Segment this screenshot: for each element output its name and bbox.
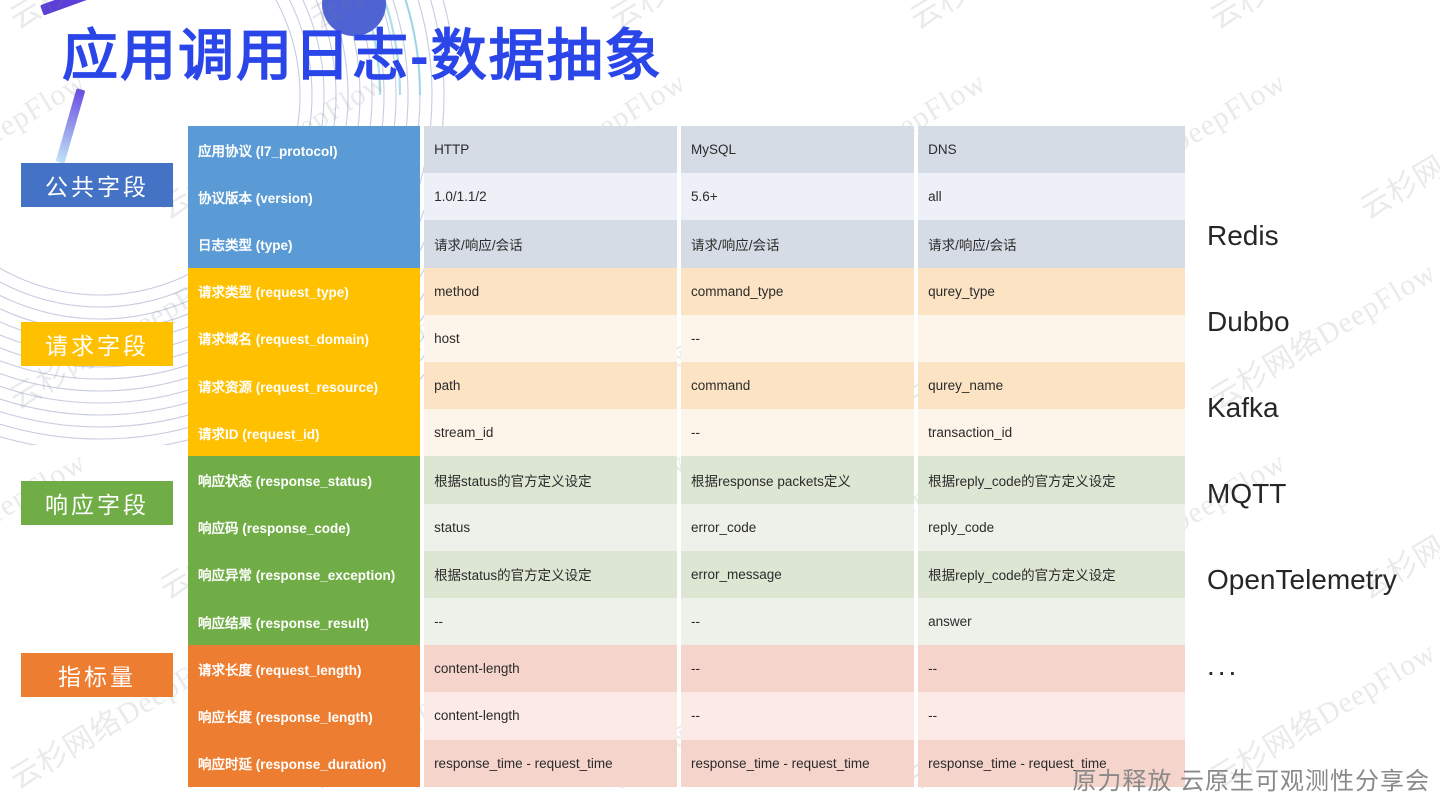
protocol-list-item: Redis: [1207, 214, 1437, 300]
table-row: 响应码 (response_code)statuserror_codereply…: [188, 504, 1185, 551]
table-row-label: 响应码 (response_code): [188, 504, 420, 551]
table-cell: method: [424, 268, 677, 315]
table-cell: 5.6+: [681, 173, 914, 220]
table-row: 响应状态 (response_status)根据status的官方定义设定根据r…: [188, 456, 1185, 503]
table-cell: status: [424, 504, 677, 551]
table-row: 日志类型 (type)请求/响应/会话请求/响应/会话请求/响应/会话: [188, 220, 1185, 267]
table-cell: 根据reply_code的官方定义设定: [918, 456, 1185, 503]
protocol-field-table: 应用协议 (l7_protocol)HTTPMySQLDNS协议版本 (vers…: [188, 126, 1185, 740]
table-cell: transaction_id: [918, 409, 1185, 456]
table-row: 协议版本 (version)1.0/1.1/25.6+all: [188, 173, 1185, 220]
table-cell: --: [681, 409, 914, 456]
table-cell: MySQL: [681, 126, 914, 173]
table-cell: all: [918, 173, 1185, 220]
table-cell: 请求/响应/会话: [681, 220, 914, 267]
table-cell: error_message: [681, 551, 914, 598]
table-cell: error_code: [681, 504, 914, 551]
table-cell: HTTP: [424, 126, 677, 173]
table-cell: qurey_type: [918, 268, 1185, 315]
table-cell: host: [424, 315, 677, 362]
protocol-list-item: MQTT: [1207, 472, 1437, 558]
table-cell: --: [681, 692, 914, 739]
table-row-label: 响应长度 (response_length): [188, 692, 420, 739]
table-cell: --: [918, 645, 1185, 692]
table-cell: command: [681, 362, 914, 409]
table-row-label: 响应结果 (response_result): [188, 598, 420, 645]
table-row-label: 请求域名 (request_domain): [188, 315, 420, 362]
table-cell: answer: [918, 598, 1185, 645]
table-cell: response_time - request_time: [681, 740, 914, 787]
page-title: 应用调用日志-数据抽象: [62, 24, 663, 88]
category-chip-label: 公共字段: [45, 168, 149, 202]
table-row: 请求长度 (request_length)content-length----: [188, 645, 1185, 692]
table-cell: response_time - request_time: [424, 740, 677, 787]
table-cell: 根据reply_code的官方定义设定: [918, 551, 1185, 598]
category-chip-label: 响应字段: [45, 486, 149, 520]
table-cell: qurey_name: [918, 362, 1185, 409]
table-row-label: 响应异常 (response_exception): [188, 551, 420, 598]
table-cell: command_type: [681, 268, 914, 315]
table-cell: --: [681, 315, 914, 362]
table-row: 响应异常 (response_exception)根据status的官方定义设定…: [188, 551, 1185, 598]
protocol-list-item: Kafka: [1207, 386, 1437, 472]
table-cell: 根据response packets定义: [681, 456, 914, 503]
table-cell: [918, 315, 1185, 362]
table-row: 应用协议 (l7_protocol)HTTPMySQLDNS: [188, 126, 1185, 173]
table-cell: path: [424, 362, 677, 409]
protocol-list-item: OpenTelemetry: [1207, 558, 1437, 644]
table-cell: --: [918, 692, 1185, 739]
category-chip-response: 响应字段: [21, 481, 173, 525]
table-cell: reply_code: [918, 504, 1185, 551]
category-chip-metric: 指标量: [21, 653, 173, 697]
purple-slash-decoration: [40, 0, 104, 16]
table-row-label: 请求类型 (request_type): [188, 268, 420, 315]
table-row: 请求ID (request_id)stream_id--transaction_…: [188, 409, 1185, 456]
table-row: 请求类型 (request_type)methodcommand_typequr…: [188, 268, 1185, 315]
table-cell: --: [681, 645, 914, 692]
table-cell: 请求/响应/会话: [918, 220, 1185, 267]
table-cell: 请求/响应/会话: [424, 220, 677, 267]
table-cell: stream_id: [424, 409, 677, 456]
table-cell: content-length: [424, 692, 677, 739]
table-cell: --: [681, 598, 914, 645]
table-row-label: 请求长度 (request_length): [188, 645, 420, 692]
gradient-slash-decoration: [56, 88, 86, 164]
table-row-label: 日志类型 (type): [188, 220, 420, 267]
table-row: 响应结果 (response_result)----answer: [188, 598, 1185, 645]
category-chip-label: 请求字段: [45, 327, 149, 361]
table-row-label: 请求资源 (request_resource): [188, 362, 420, 409]
table-cell: content-length: [424, 645, 677, 692]
table-row: 请求资源 (request_resource)pathcommandqurey_…: [188, 362, 1185, 409]
watermark: 云杉网络DeepFlow: [1350, 58, 1440, 228]
table-cell: 根据status的官方定义设定: [424, 551, 677, 598]
table-cell: 1.0/1.1/2: [424, 173, 677, 220]
table-row-label: 响应状态 (response_status): [188, 456, 420, 503]
protocol-list-item: Dubbo: [1207, 300, 1437, 386]
slide-canvas: 云杉网络DeepFlow云杉网络DeepFlow云杉网络DeepFlow云杉网络…: [0, 0, 1440, 810]
table-cell: --: [424, 598, 677, 645]
table-row-label: 请求ID (request_id): [188, 409, 420, 456]
table-row-label: 响应时延 (response_duration): [188, 740, 420, 787]
table-row: 响应长度 (response_length)content-length----: [188, 692, 1185, 739]
watermark: 云杉网络DeepFlow: [900, 0, 1143, 38]
category-chip-common: 公共字段: [21, 163, 173, 207]
protocol-list: RedisDubboKafkaMQTTOpenTelemetry...: [1207, 214, 1437, 730]
category-chip-request: 请求字段: [21, 322, 173, 366]
table-cell: DNS: [918, 126, 1185, 173]
protocol-list-item: ...: [1207, 644, 1437, 730]
table-row: 响应时延 (response_duration)response_time - …: [188, 740, 1185, 787]
table-cell: 根据status的官方定义设定: [424, 456, 677, 503]
category-chip-label: 指标量: [58, 658, 136, 692]
footer-text: 原力释放 云原生可观测性分享会: [1072, 761, 1430, 796]
table-row: 请求域名 (request_domain)host--: [188, 315, 1185, 362]
table-row-label: 应用协议 (l7_protocol): [188, 126, 420, 173]
watermark: 云杉网络DeepFlow: [1200, 0, 1440, 38]
table-row-label: 协议版本 (version): [188, 173, 420, 220]
